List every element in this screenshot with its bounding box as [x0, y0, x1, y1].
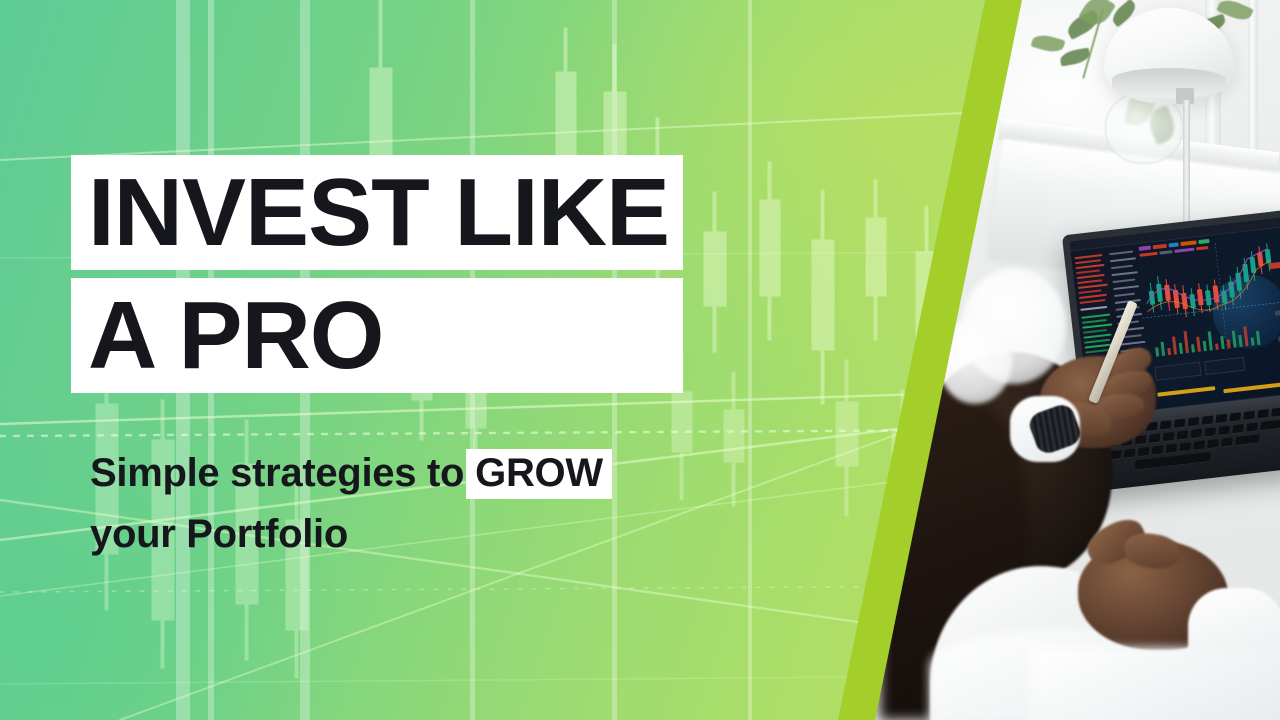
foreground-blur — [1030, 648, 1280, 720]
subheadline-prefix: Simple strategies to — [90, 451, 464, 495]
headline-line-2: A PRO — [71, 278, 683, 393]
price-chart — [1135, 227, 1280, 409]
plant-leaf-icon — [1031, 32, 1066, 55]
subheadline: Simple strategies toGROW your Portfolio — [90, 443, 612, 565]
subheadline-line-1: Simple strategies toGROW — [90, 443, 612, 504]
desk-lamp-inner — [1112, 68, 1226, 98]
headline: INVEST LIKE A PRO — [71, 155, 683, 393]
subheadline-highlight: GROW — [466, 449, 612, 499]
headline-line-1: INVEST LIKE — [71, 155, 683, 270]
subheadline-line-2: your Portfolio — [90, 504, 612, 565]
banner-canvas: INVEST LIKE A PRO Simple strategies toGR… — [0, 0, 1280, 720]
